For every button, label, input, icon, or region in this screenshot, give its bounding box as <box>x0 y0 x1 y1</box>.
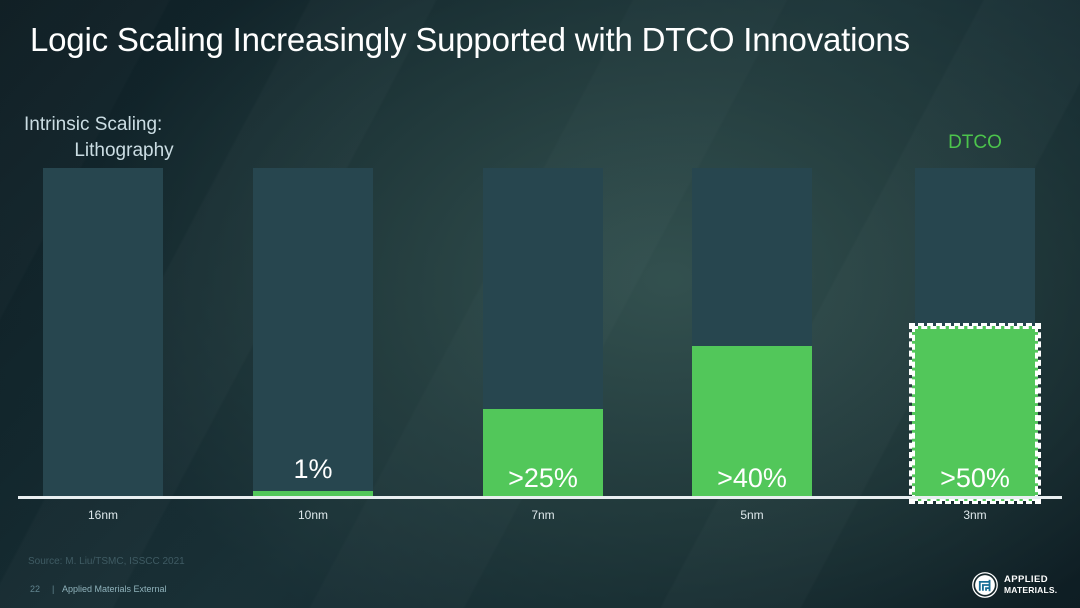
bar-intrinsic-16nm <box>43 168 163 498</box>
bar-value-label-10nm: 1% <box>253 454 373 485</box>
bar-group-7nm: >25% <box>483 168 603 498</box>
bar-chart-plot-area: 16nm1%10nm>25%7nm>40%5nm>50%3nm <box>0 0 1080 608</box>
footer-classification-text: Applied Materials External <box>62 584 167 594</box>
applied-materials-logo: APPLIED MATERIALS. <box>972 572 1057 598</box>
x-axis-tick-3nm: 3nm <box>915 508 1035 522</box>
x-axis-tick-5nm: 5nm <box>692 508 812 522</box>
logo-wordmark-line2: MATERIALS. <box>1004 585 1057 595</box>
bar-group-5nm: >40% <box>692 168 812 498</box>
bar-group-3nm: >50% <box>915 168 1035 498</box>
slide-canvas: Logic Scaling Increasingly Supported wit… <box>0 0 1080 608</box>
x-axis-tick-16nm: 16nm <box>43 508 163 522</box>
bar-intrinsic-10nm <box>253 168 373 498</box>
applied-materials-mark-icon <box>972 572 998 598</box>
slide-page-number: 22 <box>30 584 40 594</box>
x-axis-tick-10nm: 10nm <box>253 508 373 522</box>
x-axis-tick-7nm: 7nm <box>483 508 603 522</box>
source-citation: Source: M. Liu/TSMC, ISSCC 2021 <box>28 556 185 567</box>
applied-materials-wordmark: APPLIED MATERIALS. <box>1004 575 1057 595</box>
bar-value-label-5nm: >40% <box>692 463 812 494</box>
chart-baseline-axis <box>18 496 1062 499</box>
bar-group-10nm: 1% <box>253 168 373 498</box>
logo-wordmark-line1: APPLIED <box>1004 575 1057 585</box>
bar-value-label-7nm: >25% <box>483 463 603 494</box>
bar-value-label-3nm: >50% <box>915 463 1035 494</box>
footer-separator: | <box>52 584 54 594</box>
bar-group-16nm <box>43 168 163 498</box>
